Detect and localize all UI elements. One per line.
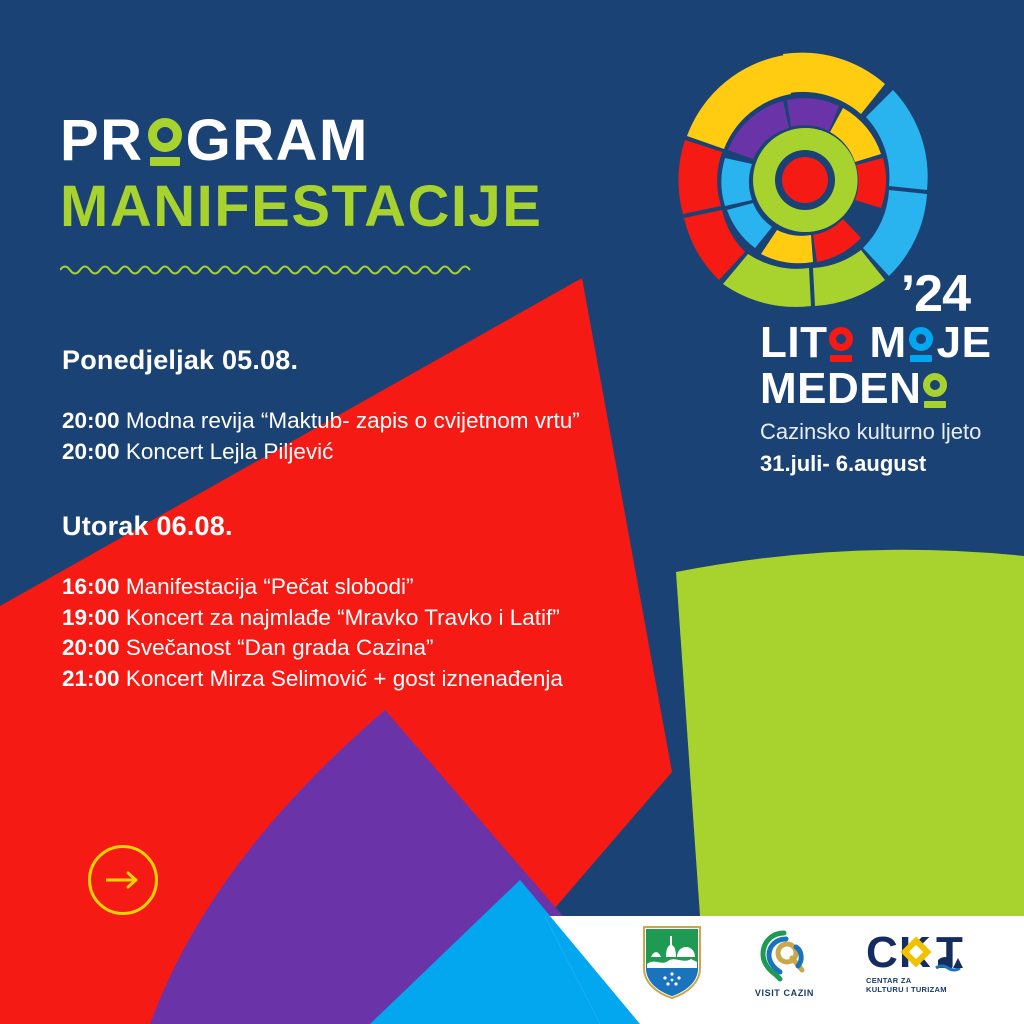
wavy-divider [60, 262, 480, 276]
event-row: 20:00 Koncert Lejla Piljević [62, 437, 682, 468]
coat-of-arms-shield-icon [641, 924, 703, 1000]
visit-cazin-logo: VISIT CAZIN [755, 927, 814, 998]
location-pin-o-icon [908, 321, 936, 365]
mandala-mid-red [855, 158, 886, 208]
location-pin-o-icon [922, 367, 950, 411]
program-listing: Ponedjeljak 05.08. 20:00 Modna revija “M… [62, 345, 682, 695]
mandala-mid-purple2 [787, 98, 839, 131]
svg-text:C: C [866, 930, 898, 976]
ckt-caption-line1: CENTAR ZA [866, 976, 911, 985]
headline-manifestacije: MANIFESTACIJE [60, 178, 542, 236]
city-of-cazin-coat-of-arms [641, 924, 703, 1000]
location-pin-o-icon [828, 321, 856, 365]
event-time: 21:00 [62, 666, 120, 691]
festival-year: ’24 [760, 270, 1010, 319]
event-row: 19:00 Koncert za najmlađe “Mravko Travko… [62, 603, 682, 634]
event-title: Koncert Mirza Selimović + gost iznenađen… [126, 666, 563, 691]
event-row: 20:00 Modna revija “Maktub- zapis o cvij… [62, 406, 682, 437]
event-title: Koncert za najmlađe “Mravko Travko i Lat… [126, 605, 560, 630]
event-title: Koncert Lejla Piljević [126, 439, 334, 464]
headline-program-part2: GRAM [186, 112, 369, 170]
festival-dates: 31.juli- 6.august [760, 451, 1010, 477]
festival-moje-je: JE [937, 321, 992, 365]
festival-moje-m: M [869, 321, 906, 365]
day-heading: Ponedjeljak 05.08. [62, 345, 682, 376]
event-row: 16:00 Manifestacija “Pečat slobodi” [62, 572, 682, 603]
arrow-right-icon [104, 871, 142, 889]
event-title: Svečanost “Dan grada Cazina” [126, 635, 434, 660]
festival-lockup: ’24 LIT M JE MEDEN Cazinsko kulturno lje… [760, 270, 1010, 477]
mandala-arc-red-left [678, 140, 722, 214]
event-time: 19:00 [62, 605, 120, 630]
mandala-mid-yellow2 [761, 230, 813, 263]
day-heading: Utorak 06.08. [62, 511, 682, 542]
event-row: 21:00 Koncert Mirza Selimović + gost izn… [62, 664, 682, 695]
mandala-center-red-dot [782, 157, 828, 203]
headline-program-part1: PR [60, 112, 144, 170]
program-day-tuesday: Utorak 06.08. 16:00 Manifestacija “Pečat… [62, 511, 682, 694]
festival-subtitle: Cazinsko kulturno ljeto [760, 419, 1010, 445]
event-time: 20:00 [62, 439, 120, 464]
green-panel-shape [676, 550, 1024, 916]
festival-lito: LIT [760, 321, 827, 365]
visit-cazin-pin-icon [756, 927, 812, 985]
event-title: Manifestacija “Pečat slobodi” [126, 574, 414, 599]
visit-cazin-caption: VISIT CAZIN [755, 988, 814, 998]
event-time: 16:00 [62, 574, 120, 599]
ckt-caption-line2: KULTURU I TURIZAM [866, 985, 947, 994]
headline-program-line: PR GRAM [60, 112, 542, 170]
location-pin-o-icon [145, 112, 185, 170]
event-title: Modna revija “Maktub- zapis o cvijetnom … [126, 408, 580, 433]
program-day-monday: Ponedjeljak 05.08. 20:00 Modna revija “M… [62, 345, 682, 467]
footer-logos: VISIT CAZIN C K T CENTAR ZA KULTURU I TU… [0, 900, 1024, 1024]
headline-block: PR GRAM MANIFESTACIJE [60, 112, 542, 281]
festival-title-line2: MEDEN [760, 367, 1010, 411]
festival-title-line1: LIT M JE [760, 321, 1010, 365]
event-time: 20:00 [62, 635, 120, 660]
festival-medeno: MEDEN [760, 367, 921, 411]
ckt-logo: C K T CENTAR ZA KULTURU I TURIZAM [866, 930, 976, 995]
ckt-monogram-icon: C K T [866, 930, 976, 976]
event-time: 20:00 [62, 408, 120, 433]
event-row: 20:00 Svečanost “Dan grada Cazina” [62, 633, 682, 664]
poster-canvas: PR GRAM MANIFESTACIJE Ponedjeljak 05.08.… [0, 0, 1024, 1024]
mandala-mid-cyan [721, 158, 752, 206]
